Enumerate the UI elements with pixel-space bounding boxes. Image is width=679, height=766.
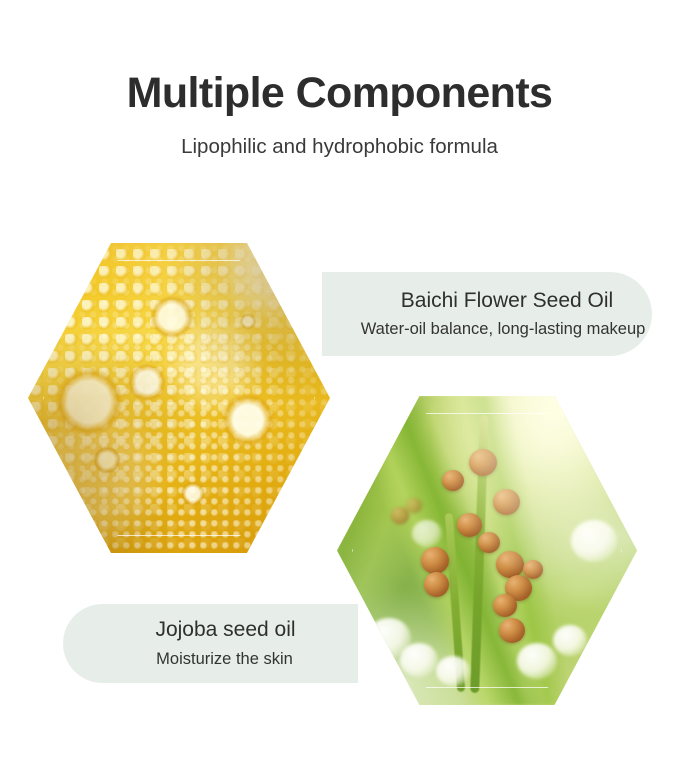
component-label-jojoba-seed-oil: Jojoba seed oil Moisturize the skin	[63, 604, 358, 683]
component-title-jojoba: Jojoba seed oil	[155, 618, 295, 642]
component-subtitle-jojoba: Moisturize the skin	[156, 650, 293, 669]
golden-oil-sheen	[28, 243, 330, 553]
component-subtitle-baichi: Water-oil balance, long-lasting makeup	[361, 320, 646, 339]
component-label-baichi-flower-seed-oil: Baichi Flower Seed Oil Water-oil balance…	[322, 272, 652, 356]
hexagon-image-golden-oil	[28, 243, 330, 553]
components-stage: Baichi Flower Seed Oil Water-oil balance…	[0, 0, 679, 766]
plant-sun-glow	[337, 396, 637, 705]
hexagon-image-jojoba-plant	[337, 396, 637, 705]
component-title-baichi: Baichi Flower Seed Oil	[401, 289, 613, 313]
